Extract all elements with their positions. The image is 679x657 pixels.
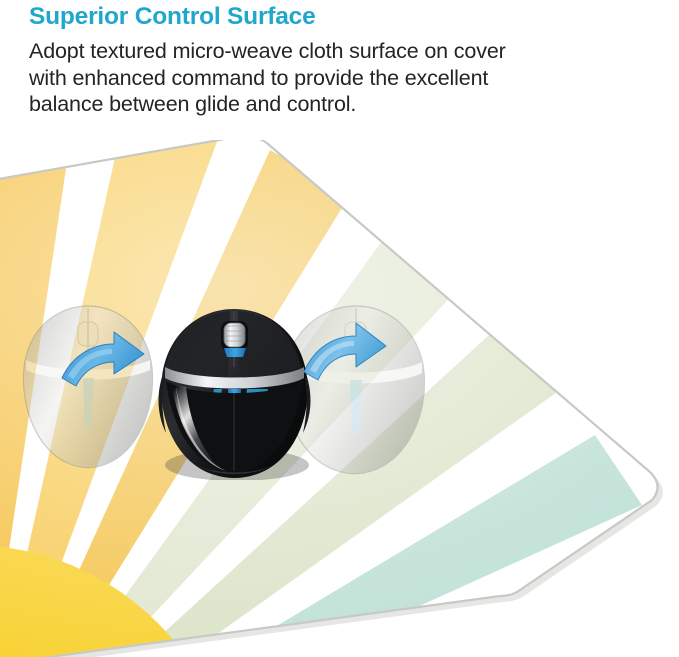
body-line-3: balance between glide and control. (29, 91, 649, 118)
mouse-scroll-wheel (224, 323, 245, 347)
motion-arrow-left (58, 330, 148, 400)
body-line-1: Adopt textured micro-weave cloth surface… (29, 38, 649, 65)
body-line-2: with enhanced command to provide the exc… (29, 65, 649, 92)
motion-arrow-left-graphic (58, 330, 148, 400)
page-title: Superior Control Surface (29, 3, 316, 31)
mouse-wheel-glow (224, 348, 246, 357)
body-description: Adopt textured micro-weave cloth surface… (29, 38, 649, 118)
motion-arrow-right (300, 320, 390, 392)
text-block: Superior Control Surface Adopt textured … (0, 0, 679, 140)
product-feature-panel: Superior Control Surface Adopt textured … (0, 0, 679, 657)
motion-arrow-right-graphic (300, 320, 390, 392)
